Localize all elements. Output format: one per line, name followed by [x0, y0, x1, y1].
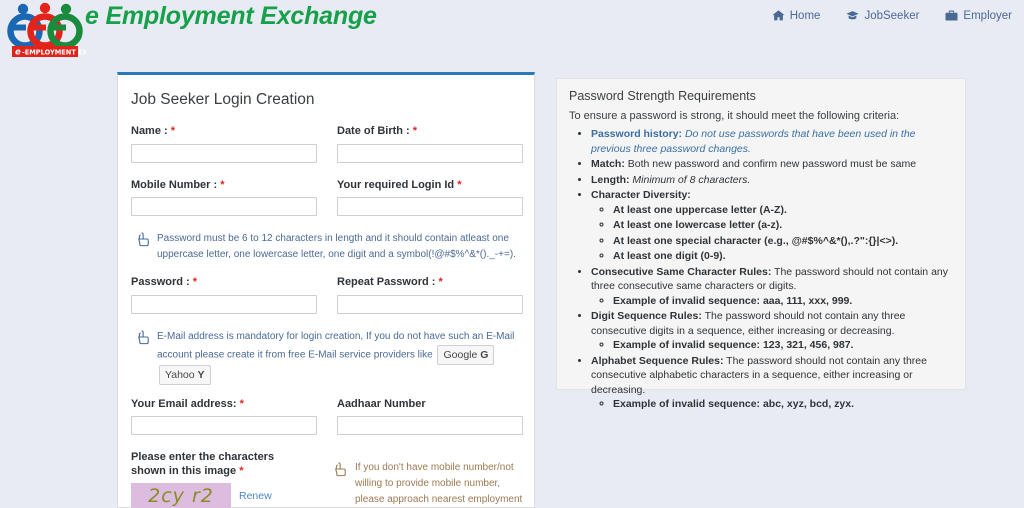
nav-item-jobseeker[interactable]: JobSeeker: [846, 9, 919, 22]
field-group-mobile: Mobile Number : *: [131, 178, 327, 217]
spacer: [131, 263, 523, 275]
password-rule-sublist: At least one uppercase letter (A-Z).At l…: [591, 203, 953, 264]
repeat-password-input[interactable]: [337, 295, 523, 314]
captcha-label: Please enter the characters shown in thi…: [131, 450, 306, 478]
form-row-2: Mobile Number : * Your required Login Id…: [131, 178, 523, 217]
graduation-cap-icon: [846, 9, 859, 22]
rule-term: Alphabet Sequence Rules:: [591, 355, 723, 367]
login-id-input[interactable]: [337, 197, 523, 216]
password-rule-item: Digit Sequence Rules: The password shoul…: [591, 309, 953, 353]
pointing-hand-icon: [333, 461, 350, 478]
required-marker: *: [438, 276, 442, 288]
dob-input[interactable]: [337, 144, 523, 163]
password-rule-item: Password history: Do not use passwords t…: [591, 127, 953, 156]
email-input[interactable]: [131, 416, 317, 435]
form-row-1: Name : * Date of Birth : *: [131, 124, 523, 163]
pointing-hand-icon: [136, 329, 153, 346]
rule-term: Character Diversity:: [591, 189, 691, 201]
nav-item-employer[interactable]: Employer: [945, 9, 1012, 22]
login-creation-card: Job Seeker Login Creation Name : * Date …: [117, 72, 535, 508]
yahoo-provider-button[interactable]: Yahoo Y: [159, 365, 211, 385]
captcha-image: 2cy r2: [131, 483, 231, 508]
spacer: [131, 216, 523, 231]
password-rule-item: Alphabet Sequence Rules: The password sh…: [591, 354, 953, 412]
password-rule-item: Match: Both new password and confirm new…: [591, 157, 953, 172]
spacer: [131, 314, 523, 329]
password-rule-item: Character Diversity:At least one upperca…: [591, 188, 953, 264]
panel-subtitle: To ensure a password is strong, it shoul…: [569, 110, 953, 122]
mobile-number-hint: If you don't have mobile number/not will…: [331, 460, 523, 508]
required-marker: *: [193, 276, 197, 288]
site-header: e -EMPLOYMENT EXCHANGE e Employment Exch…: [0, 0, 1024, 62]
field-group-dob: Date of Birth : *: [327, 124, 523, 163]
password-subrule-item: At least one lowercase letter (a-z).: [613, 218, 953, 233]
password-input[interactable]: [131, 295, 317, 314]
site-logo[interactable]: e -EMPLOYMENT EXCHANGE: [4, 2, 86, 60]
home-icon: [772, 9, 785, 22]
rule-text: Both new password and confirm new passwo…: [625, 158, 916, 170]
password-subrule-item: Example of invalid sequence: abc, xyz, b…: [613, 397, 953, 412]
name-input[interactable]: [131, 144, 317, 163]
password-rule-sublist: Example of invalid sequence: aaa, 111, x…: [591, 294, 953, 309]
captcha-renew-link[interactable]: Renew: [239, 490, 272, 502]
required-marker: *: [220, 179, 224, 191]
rule-text: Minimum of 8 characters.: [630, 174, 751, 186]
nav-item-employer-label: Employer: [963, 10, 1012, 22]
nav-item-home-label: Home: [790, 10, 821, 22]
password-rule-sublist: Example of invalid sequence: 123, 321, 4…: [591, 338, 953, 353]
nav-item-jobseeker-label: JobSeeker: [864, 10, 919, 22]
google-provider-button[interactable]: Google G: [437, 345, 494, 365]
required-marker: *: [457, 179, 461, 191]
form-row-4: Your Email address: * Aadhaar Number: [131, 397, 523, 436]
brand-title: e Employment Exchange: [85, 2, 377, 31]
spacer: [131, 435, 523, 450]
name-label: Name : *: [131, 124, 327, 138]
aadhaar-input[interactable]: [337, 416, 523, 435]
required-marker: *: [413, 125, 417, 137]
password-subrule-item: At least one digit (0-9).: [613, 249, 953, 264]
email-hint-line-2: please create it from free E-Mail servic…: [195, 349, 433, 360]
mobile-label: Mobile Number : *: [131, 178, 327, 192]
password-rule-sublist: Example of invalid sequence: abc, xyz, b…: [591, 397, 953, 412]
field-group-name: Name : *: [131, 124, 327, 163]
repeat-password-label: Repeat Password : *: [337, 275, 523, 289]
registration-form: Name : * Date of Birth : * Mobile Number…: [131, 124, 523, 508]
field-group-password: Password : *: [131, 275, 327, 314]
page-root: e -EMPLOYMENT EXCHANGE e Employment Exch…: [0, 0, 1024, 508]
required-marker: *: [171, 125, 175, 137]
svg-text:-EMPLOYMENT EXCHANGE: -EMPLOYMENT EXCHANGE: [22, 48, 86, 56]
email-label: Your Email address: *: [131, 397, 327, 411]
field-group-login-id: Your required Login Id *: [327, 178, 523, 217]
required-marker: *: [239, 465, 243, 477]
field-group-repeat-password: Repeat Password : *: [327, 275, 523, 314]
field-group-aadhaar: Aadhaar Number: [327, 397, 523, 436]
page-title: Job Seeker Login Creation: [131, 91, 315, 109]
password-rule-item: Consecutive Same Character Rules: The pa…: [591, 265, 953, 309]
password-rules-list: Password history: Do not use passwords t…: [569, 127, 953, 412]
password-label: Password : *: [131, 275, 327, 289]
email-hint: E-Mail address is mandatory for login cr…: [131, 329, 523, 385]
dob-label: Date of Birth : *: [337, 124, 523, 138]
nav-item-home[interactable]: Home: [772, 9, 821, 22]
password-rule-item: Length: Minimum of 8 characters.: [591, 173, 953, 188]
required-marker: *: [240, 398, 244, 410]
mobile-input[interactable]: [131, 197, 317, 216]
login-id-label: Your required Login Id *: [337, 178, 523, 192]
spacer: [131, 163, 523, 178]
field-group-email: Your Email address: *: [131, 397, 327, 436]
rule-term: Match:: [591, 158, 625, 170]
rule-term: Consecutive Same Character Rules:: [591, 266, 771, 278]
rule-term: Digit Sequence Rules:: [591, 310, 702, 322]
briefcase-icon: [945, 9, 958, 22]
ee-logo-icon: e -EMPLOYMENT EXCHANGE: [4, 2, 86, 60]
main-navigation: Home JobSeeker Employer: [772, 9, 1012, 22]
mobile-hint-text: If you don't have mobile number/not will…: [355, 462, 522, 508]
svg-text:e: e: [15, 48, 21, 58]
password-subrule-item: At least one special character (e.g., @#…: [613, 234, 953, 249]
password-hint-text: Password must be 6 to 12 characters in l…: [157, 233, 516, 260]
password-subrule-item: At least one uppercase letter (A-Z).: [613, 203, 953, 218]
spacer: [131, 385, 523, 397]
panel-title: Password Strength Requirements: [569, 89, 953, 103]
password-subrule-item: Example of invalid sequence: aaa, 111, x…: [613, 294, 953, 309]
rule-term: Length:: [591, 174, 630, 186]
pointing-hand-icon: [136, 231, 153, 248]
aadhaar-label: Aadhaar Number: [337, 397, 523, 411]
password-requirements-panel: Password Strength Requirements To ensure…: [556, 78, 966, 390]
password-subrule-item: Example of invalid sequence: 123, 321, 4…: [613, 338, 953, 353]
rule-term: Password history:: [591, 128, 682, 140]
password-hint: Password must be 6 to 12 characters in l…: [131, 231, 523, 263]
form-row-3: Password : * Repeat Password : *: [131, 275, 523, 314]
